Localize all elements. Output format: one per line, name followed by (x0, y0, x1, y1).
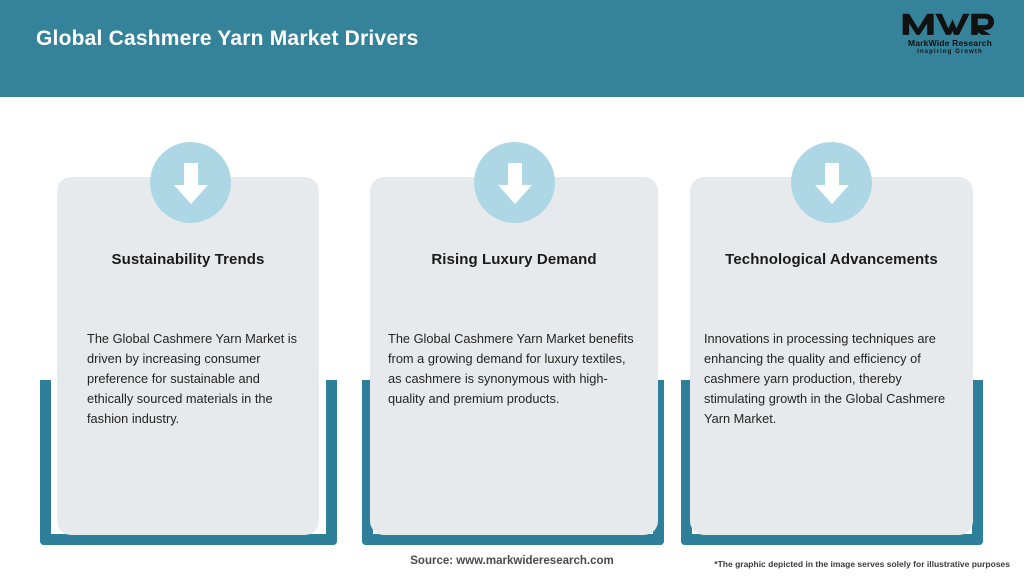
disclaimer-note: *The graphic depicted in the image serve… (714, 559, 1010, 569)
card-title: Rising Luxury Demand (370, 251, 658, 268)
arrow-down-icon (791, 142, 872, 223)
card-body: The Global Cashmere Yarn Market benefits… (388, 329, 642, 409)
infographic-page: Global Cashmere Yarn Market Drivers Mark… (0, 0, 1024, 576)
card-title: Sustainability Trends (57, 251, 319, 268)
card-body: The Global Cashmere Yarn Market is drive… (87, 329, 299, 429)
driver-column-1: Sustainability Trends The Global Cashmer… (33, 0, 344, 576)
driver-column-2: Rising Luxury Demand The Global Cashmere… (361, 0, 672, 576)
driver-column-3: Technological Advancements Innovations i… (681, 0, 992, 576)
driver-card[interactable]: Rising Luxury Demand The Global Cashmere… (370, 177, 658, 535)
arrow-down-icon (150, 142, 231, 223)
arrow-down-icon (474, 142, 555, 223)
card-body: Innovations in processing techniques are… (704, 329, 959, 429)
driver-card[interactable]: Technological Advancements Innovations i… (690, 177, 973, 535)
card-title: Technological Advancements (690, 251, 973, 268)
driver-card[interactable]: Sustainability Trends The Global Cashmer… (57, 177, 319, 535)
